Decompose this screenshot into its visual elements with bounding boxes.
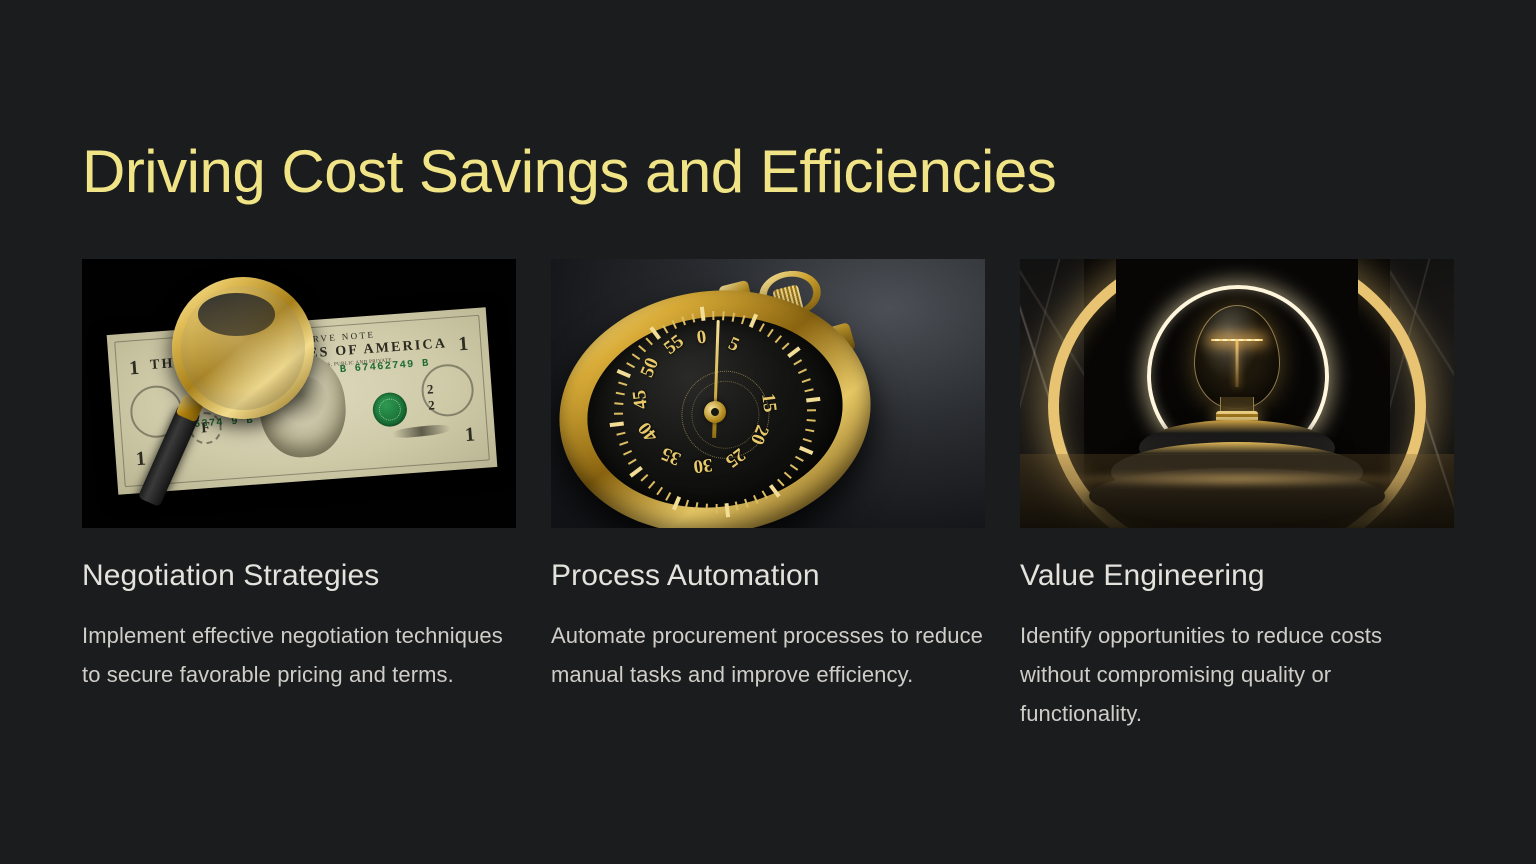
magnifying-glass-over-dollar-bill-photo: FEDERAL RESERVE NOTE THE UNITED STATES O… bbox=[82, 259, 516, 528]
page-title: Driving Cost Savings and Efficiencies bbox=[82, 140, 1056, 203]
light-bulb-filament bbox=[1211, 339, 1263, 341]
stopwatch-number: 35 bbox=[658, 442, 684, 470]
bill-district-number-c: 2 bbox=[428, 397, 436, 413]
stopwatch-case: 05152025303540455055 bbox=[551, 273, 885, 528]
card-heading: Negotiation Strategies bbox=[82, 559, 516, 594]
card-body-text: Automate procurement processes to reduce… bbox=[551, 616, 985, 694]
stopwatch: 05152025303540455055 bbox=[551, 273, 885, 528]
card-body-text: Implement effective negotiation techniqu… bbox=[82, 616, 516, 694]
feature-card-row: FEDERAL RESERVE NOTE THE UNITED STATES O… bbox=[82, 259, 1454, 733]
gold-stopwatch-photo: 05152025303540455055 bbox=[551, 259, 985, 528]
card-heading: Value Engineering bbox=[1020, 559, 1454, 594]
floor-glow-reflection bbox=[1055, 470, 1420, 488]
bill-corner-number-bottom-right: 1 bbox=[464, 423, 476, 447]
treasury-seal bbox=[372, 391, 408, 427]
feature-card-value-engineering[interactable]: Value Engineering Identify opportunities… bbox=[1020, 259, 1454, 733]
feature-card-negotiation-strategies[interactable]: FEDERAL RESERVE NOTE THE UNITED STATES O… bbox=[82, 259, 516, 733]
magnifier-lens-ring bbox=[172, 277, 314, 419]
magnifier-glass-highlight bbox=[198, 293, 275, 335]
bill-corner-number-top-right: 1 bbox=[457, 333, 469, 357]
stopwatch-number: 45 bbox=[629, 389, 653, 411]
glowing-light-bulb-on-podium-photo bbox=[1020, 259, 1454, 528]
slide: Driving Cost Savings and Efficiencies FE… bbox=[0, 0, 1536, 864]
stopwatch-number: 40 bbox=[634, 417, 663, 445]
stopwatch-number: 55 bbox=[660, 331, 688, 360]
stopwatch-number: 5 bbox=[725, 333, 742, 357]
card-heading: Process Automation bbox=[551, 559, 985, 594]
card-body-text: Identify opportunities to reduce costs w… bbox=[1020, 616, 1454, 733]
bill-corner-number-top-left: 1 bbox=[128, 357, 140, 381]
bill-signature bbox=[392, 423, 451, 439]
bill-corner-number-bottom-left: 1 bbox=[135, 448, 147, 472]
feature-card-process-automation[interactable]: 05152025303540455055 Process Automation … bbox=[551, 259, 985, 733]
stopwatch-number: 50 bbox=[636, 355, 664, 381]
stopwatch-dial: 05152025303540455055 bbox=[576, 302, 853, 522]
marble-floor bbox=[1020, 454, 1454, 528]
light-bulb-filament-stem bbox=[1236, 341, 1239, 387]
bill-district-number-b: 2 bbox=[426, 381, 434, 397]
stopwatch-number: 0 bbox=[696, 327, 708, 350]
